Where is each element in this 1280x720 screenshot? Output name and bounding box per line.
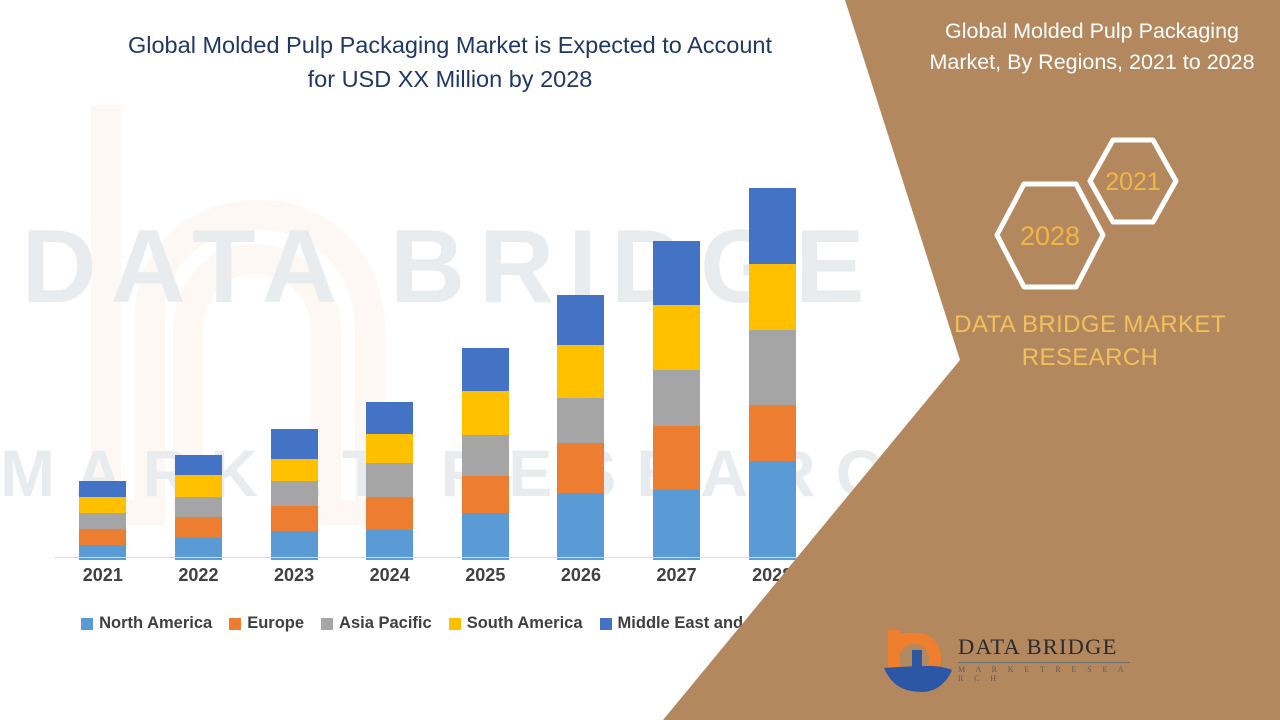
stacked-bar — [749, 188, 796, 560]
brand-panel-content: Global Molded Pulp Packaging Market, By … — [900, 0, 1280, 720]
bar-segment — [462, 476, 509, 513]
stacked-bar — [366, 402, 413, 560]
bar-segment — [557, 493, 604, 560]
company-logo: DATA BRIDGE M A R K E T R E S E A R C H — [882, 628, 1142, 700]
chart-title-line-2: for USD XX Million by 2028 — [60, 62, 840, 96]
stacked-bar — [79, 481, 126, 560]
hexagon-2021-label: 2021 — [1085, 168, 1181, 197]
bar-column — [151, 150, 246, 560]
bar-segment — [366, 497, 413, 530]
bar-segment — [79, 481, 126, 497]
bar-segment — [366, 530, 413, 560]
bar-segment — [175, 475, 222, 497]
panel-heading: Global Molded Pulp Packaging Market, By … — [908, 16, 1276, 78]
stacked-bar — [653, 241, 700, 560]
bar-segment — [653, 241, 700, 305]
bar-segment — [749, 264, 796, 330]
x-axis-tick: 2026 — [533, 565, 628, 595]
legend-swatch-icon — [449, 618, 461, 630]
legend-item[interactable]: North America — [81, 614, 212, 633]
bar-segment — [462, 391, 509, 435]
legend-label: Asia Pacific — [339, 614, 432, 633]
stacked-bar — [462, 348, 509, 560]
bar-column — [55, 150, 150, 560]
bar-segment — [749, 188, 796, 264]
hexagon-group: 2028 2021 — [900, 130, 1280, 295]
legend-label: North America — [99, 614, 212, 633]
legend-item[interactable]: Europe — [229, 614, 304, 633]
bar-segment — [557, 295, 604, 345]
x-axis-labels: 20212022202320242025202620272028 — [55, 565, 820, 595]
bar-column — [533, 150, 628, 560]
bar-column — [629, 150, 724, 560]
bar-column — [342, 150, 437, 560]
bar-segment — [79, 513, 126, 529]
bar-segment — [462, 348, 509, 391]
stacked-bar — [271, 429, 318, 560]
logo-divider — [958, 662, 1130, 663]
x-axis-tick: 2024 — [342, 565, 437, 595]
bar-segment — [653, 370, 700, 426]
bar-column — [725, 150, 820, 560]
legend-label: Europe — [247, 614, 304, 633]
legend-swatch-icon — [81, 618, 93, 630]
stacked-bar — [557, 295, 604, 560]
hexagon-2021: 2021 — [1085, 135, 1181, 227]
bar-segment — [749, 330, 796, 405]
bar-segment — [271, 429, 318, 459]
bar-segment — [557, 345, 604, 398]
chart-legend: North AmericaEuropeAsia PacificSouth Ame… — [55, 614, 820, 633]
bar-segment — [79, 529, 126, 545]
legend-item[interactable]: Asia Pacific — [321, 614, 432, 633]
page-title: Global Molded Pulp Packaging Market is E… — [60, 28, 840, 96]
legend-swatch-icon — [321, 618, 333, 630]
bar-segment — [653, 305, 700, 370]
bar-segment — [271, 459, 318, 481]
bar-segment — [653, 426, 700, 490]
bar-segment — [462, 435, 509, 476]
bar-segment — [175, 497, 222, 517]
x-axis-tick: 2021 — [55, 565, 150, 595]
logo-subtitle: M A R K E T R E S E A R C H — [958, 665, 1138, 683]
bar-segment — [79, 497, 126, 513]
legend-swatch-icon — [229, 618, 241, 630]
logo-text: DATA BRIDGE M A R K E T R E S E A R C H — [958, 634, 1138, 683]
bar-segment — [653, 490, 700, 560]
panel-heading-line-1: Global Molded Pulp Packaging — [908, 16, 1276, 47]
bar-segment — [175, 455, 222, 475]
bar-segment — [557, 398, 604, 443]
stacked-bar — [175, 455, 222, 560]
x-axis-tick: 2022 — [151, 565, 246, 595]
bar-segment — [366, 463, 413, 497]
bar-segment — [557, 443, 604, 493]
plot-area — [55, 150, 820, 560]
logo-mark-icon — [882, 628, 958, 694]
bar-segment — [271, 481, 318, 506]
bar-segment — [366, 402, 413, 434]
bar-segment — [749, 461, 796, 560]
logo-title: DATA BRIDGE — [958, 634, 1138, 660]
brand-name: DATA BRIDGE MARKET RESEARCH — [910, 308, 1270, 374]
bar-column — [438, 150, 533, 560]
x-axis-tick: 2025 — [438, 565, 533, 595]
x-axis-tick: 2023 — [247, 565, 342, 595]
legend-swatch-icon — [600, 618, 612, 630]
x-axis-tick: 2027 — [629, 565, 724, 595]
bar-column — [247, 150, 342, 560]
bar-segment — [175, 517, 222, 538]
legend-item[interactable]: South America — [449, 614, 583, 633]
chart-title-line-1: Global Molded Pulp Packaging Market is E… — [60, 28, 840, 62]
bar-segment — [271, 531, 318, 560]
panel-heading-line-2: Market, By Regions, 2021 to 2028 — [908, 47, 1276, 78]
bar-segment — [749, 405, 796, 461]
brand-line-1: DATA BRIDGE MARKET — [910, 308, 1270, 341]
bar-segment — [271, 506, 318, 531]
bar-segment — [366, 434, 413, 463]
brand-line-2: RESEARCH — [910, 341, 1270, 374]
bar-segment — [462, 513, 509, 560]
bar-group — [55, 150, 820, 560]
legend-label: South America — [467, 614, 583, 633]
x-axis-line — [55, 557, 820, 558]
